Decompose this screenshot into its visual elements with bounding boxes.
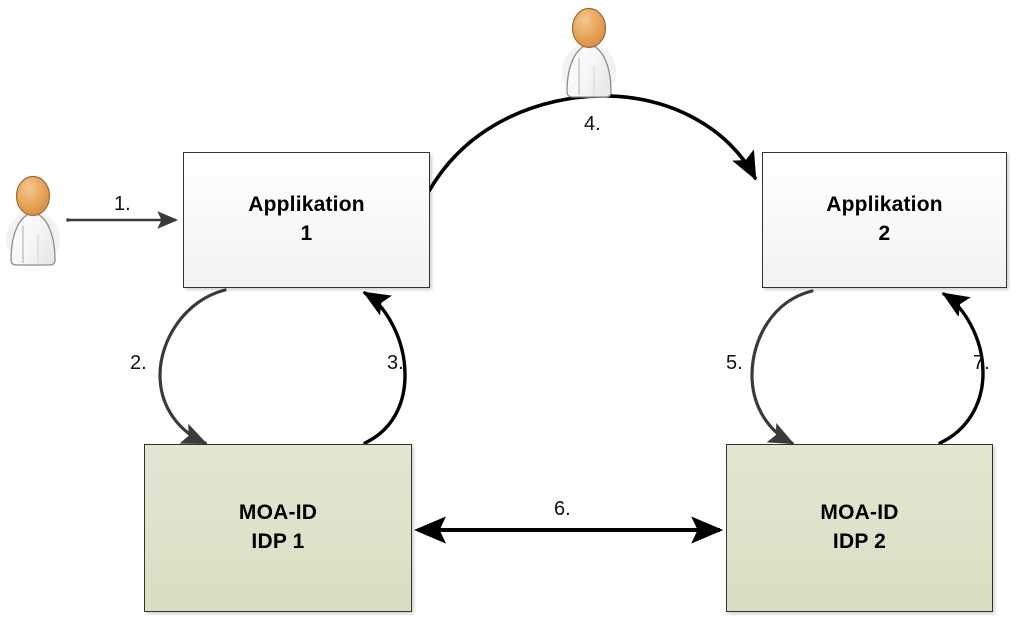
connector-step-1 bbox=[66, 218, 176, 222]
step-label-4: 4. bbox=[584, 113, 601, 136]
moa-id-idp-2-label-line1: MOA-ID bbox=[820, 499, 898, 528]
diagram-canvas: Applikation 1 Applikation 2 MOA-ID IDP 1… bbox=[0, 0, 1010, 618]
application-1-label-line1: Applikation bbox=[248, 191, 365, 220]
moa-id-idp-1-label-line2: IDP 1 bbox=[251, 528, 304, 557]
connector-step-5 bbox=[752, 291, 812, 443]
step-label-3: 3. bbox=[387, 352, 404, 375]
application-1-box[interactable]: Applikation 1 bbox=[183, 152, 430, 288]
step-label-1: 1. bbox=[114, 193, 131, 216]
moa-id-idp-1-box[interactable]: MOA-ID IDP 1 bbox=[144, 444, 412, 612]
step-label-6: 6. bbox=[554, 498, 571, 521]
moa-id-idp-2-box[interactable]: MOA-ID IDP 2 bbox=[726, 444, 993, 612]
moa-id-idp-2-label-line2: IDP 2 bbox=[833, 528, 886, 557]
application-2-box[interactable]: Applikation 2 bbox=[762, 152, 1007, 288]
step-label-2: 2. bbox=[130, 352, 147, 375]
application-1-label-line2: 1 bbox=[301, 220, 313, 249]
user-actor-top-figure bbox=[562, 9, 616, 99]
step-label-7: 7. bbox=[973, 352, 990, 375]
connector-step-2 bbox=[160, 290, 225, 443]
application-2-label-line1: Applikation bbox=[826, 191, 943, 220]
moa-id-idp-1-label-line1: MOA-ID bbox=[239, 499, 317, 528]
step-label-5: 5. bbox=[726, 352, 743, 375]
user-actor-left-figure bbox=[6, 177, 60, 267]
connector-step-4 bbox=[429, 96, 755, 191]
application-2-label-line2: 2 bbox=[879, 220, 891, 249]
